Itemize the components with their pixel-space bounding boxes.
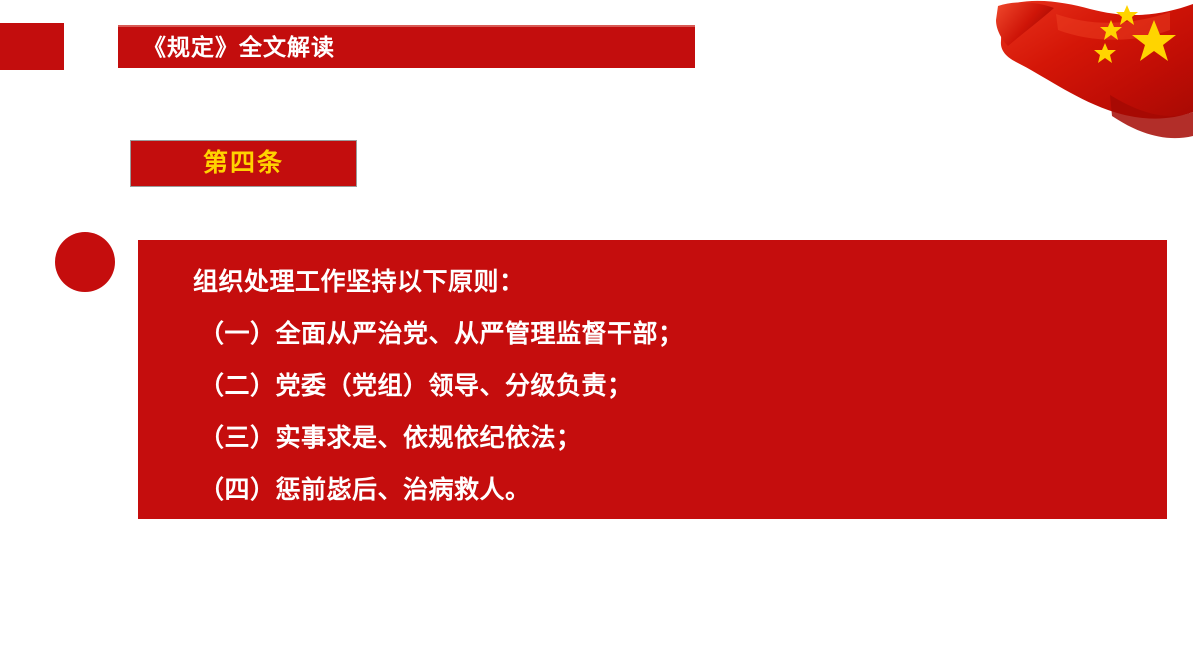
content-panel: 组织处理工作坚持以下原则： （一）全面从严治党、从严管理监督干部； （二）党委（… [138, 240, 1167, 519]
presentation-slide: 《规定》全文解读 [0, 0, 1193, 670]
article-number-badge: 第四条 [130, 140, 357, 187]
content-item-3: （三）实事求是、依规依纪依法； [193, 412, 1167, 464]
header-accent-block [0, 23, 64, 70]
bullet-dot-icon [55, 232, 115, 292]
content-item-1: （一）全面从严治党、从严管理监督干部； [193, 308, 1167, 360]
content-lead-text: 组织处理工作坚持以下原则： [193, 256, 1167, 308]
article-number-label: 第四条 [203, 151, 284, 176]
content-item-2: （二）党委（党组）领导、分级负责； [193, 360, 1167, 412]
china-flag-icon [960, 0, 1193, 150]
page-title: 《规定》全文解读 [118, 36, 335, 59]
content-item-4: （四）惩前毖后、治病救人。 [193, 464, 1167, 516]
slide-title-bar: 《规定》全文解读 [118, 25, 695, 68]
